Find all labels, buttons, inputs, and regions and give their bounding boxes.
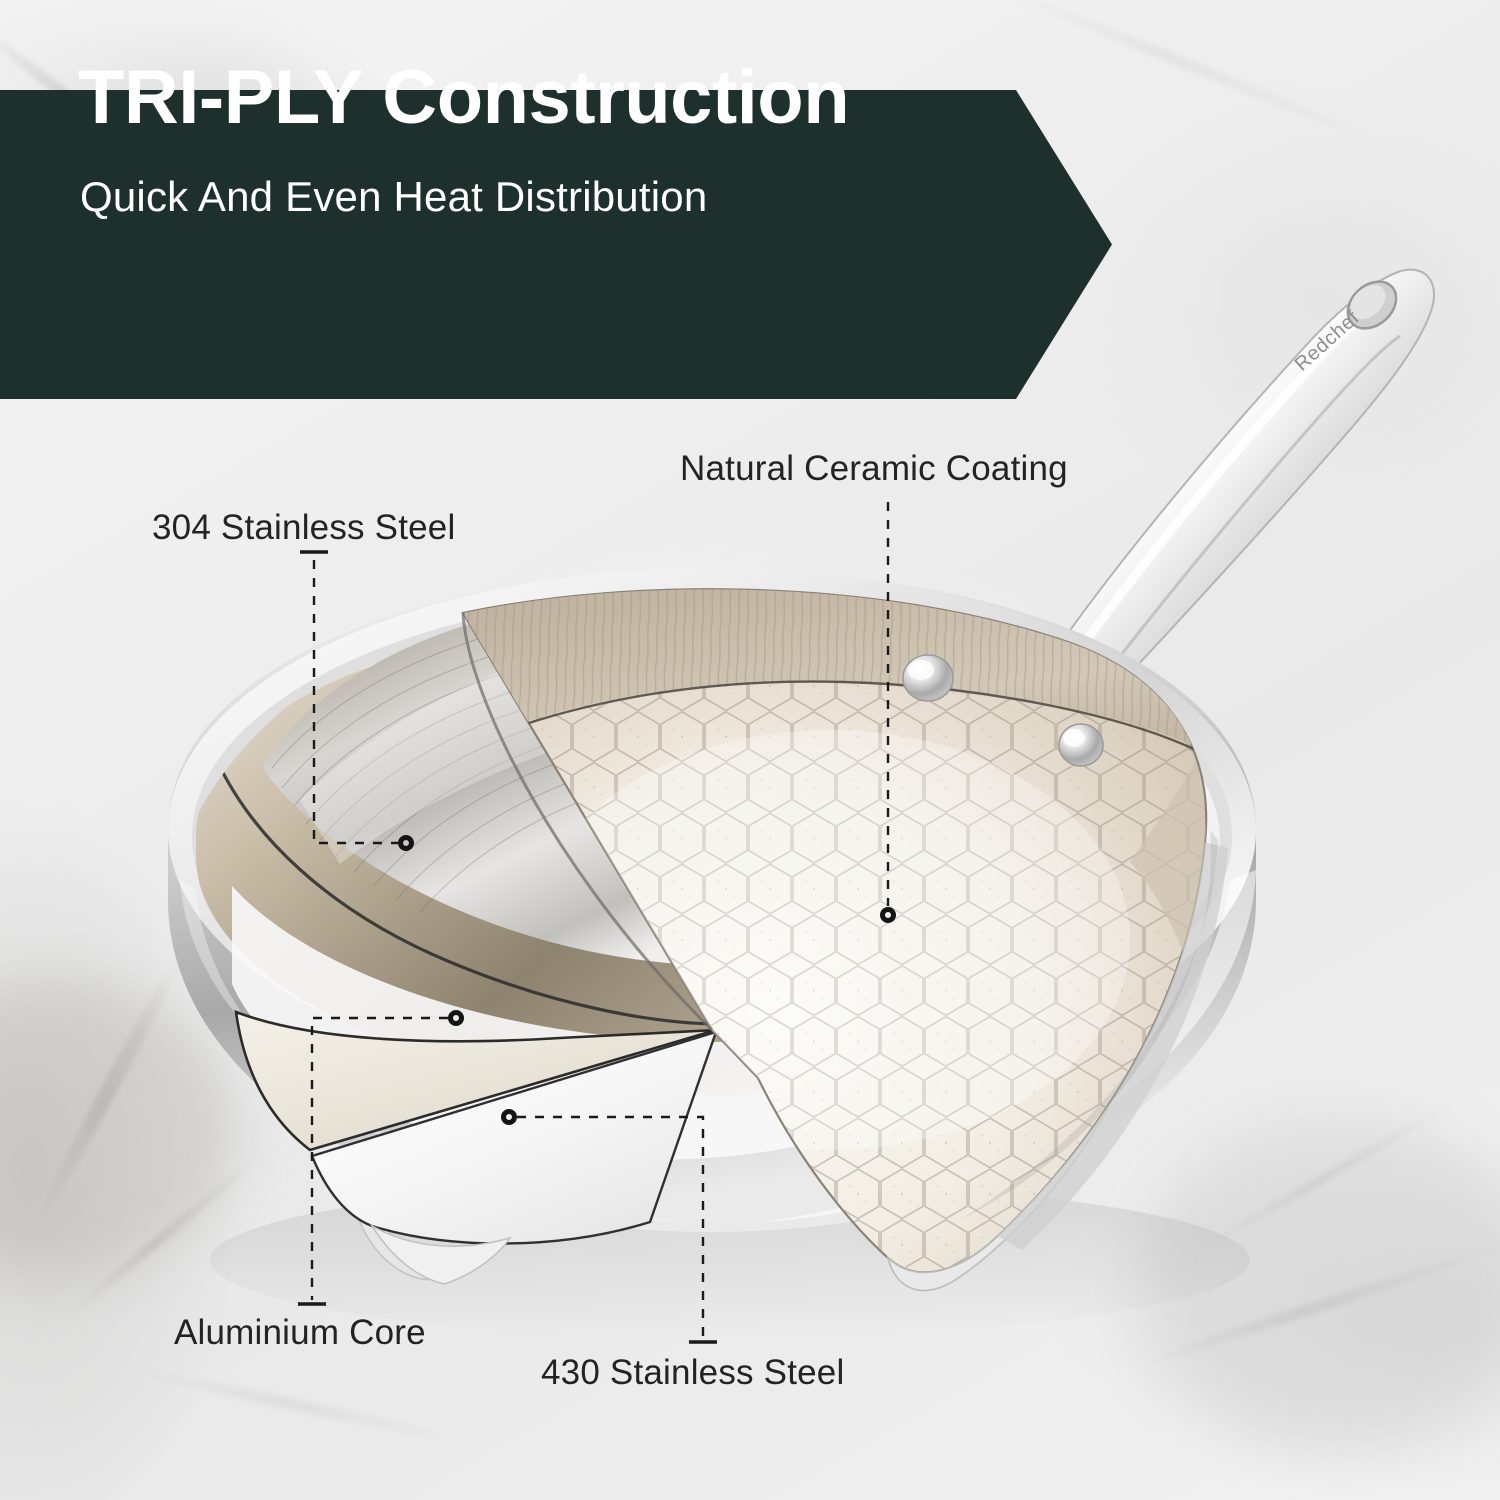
callout-label-430-stainless-steel: 430 Stainless Steel <box>541 1353 844 1393</box>
banner-title: TRI-PLY Construction <box>78 60 849 136</box>
pan-rivet-upper <box>903 655 953 701</box>
infographic-canvas: Redchef <box>0 0 1500 1500</box>
pan-handle: Redchef <box>1043 270 1434 703</box>
banner-subtitle: Quick And Even Heat Distribution <box>80 176 707 218</box>
callout-label-aluminium-core: Aluminium Core <box>174 1313 426 1353</box>
callout-label-ceramic-coating: Natural Ceramic Coating <box>680 449 1068 489</box>
callout-label-304-stainless-steel: 304 Stainless Steel <box>152 508 455 548</box>
pan-rivet-lower <box>1059 724 1103 766</box>
